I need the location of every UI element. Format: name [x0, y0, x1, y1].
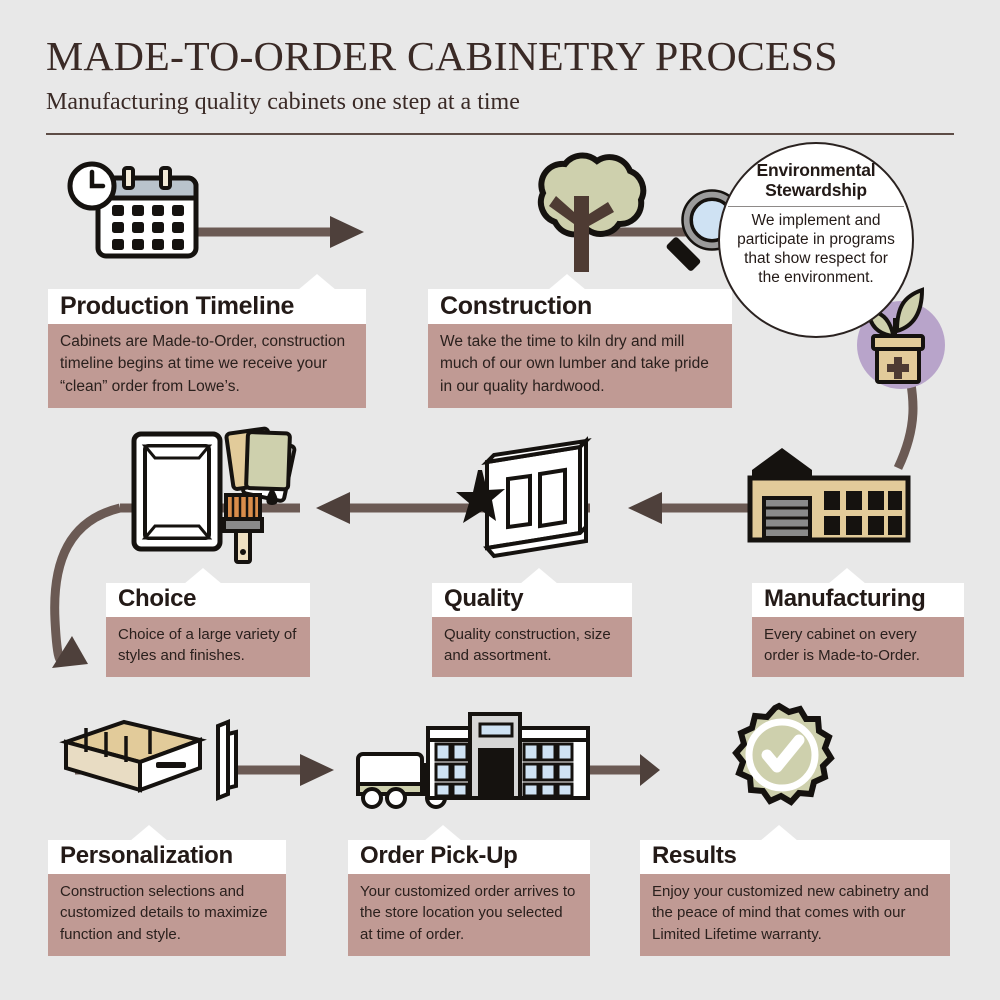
check-badge-icon	[736, 706, 831, 802]
factory-icon	[750, 448, 908, 540]
truck-store-icon	[358, 714, 588, 807]
calendar-clock-icon	[70, 164, 196, 256]
tree-icon	[541, 155, 643, 272]
cabinet-icon	[456, 441, 586, 556]
infographic-canvas: MADE-TO-ORDER CABINETRY PROCESS Manufact…	[0, 0, 1000, 1000]
paint-brush-icon	[224, 495, 262, 562]
swatch-cards	[226, 428, 295, 501]
cabinet-pull-icon	[218, 722, 236, 798]
callout-body: We implement and participate in programs…	[720, 212, 912, 288]
door-swatches-brush-icon	[134, 428, 295, 562]
environmental-stewardship-callout: Environmental Stewardship We implement a…	[718, 142, 914, 338]
drawer-handle-icon	[66, 722, 236, 798]
store-icon	[428, 714, 588, 798]
callout-divider	[728, 206, 904, 208]
callout-title: Environmental Stewardship	[720, 160, 912, 201]
